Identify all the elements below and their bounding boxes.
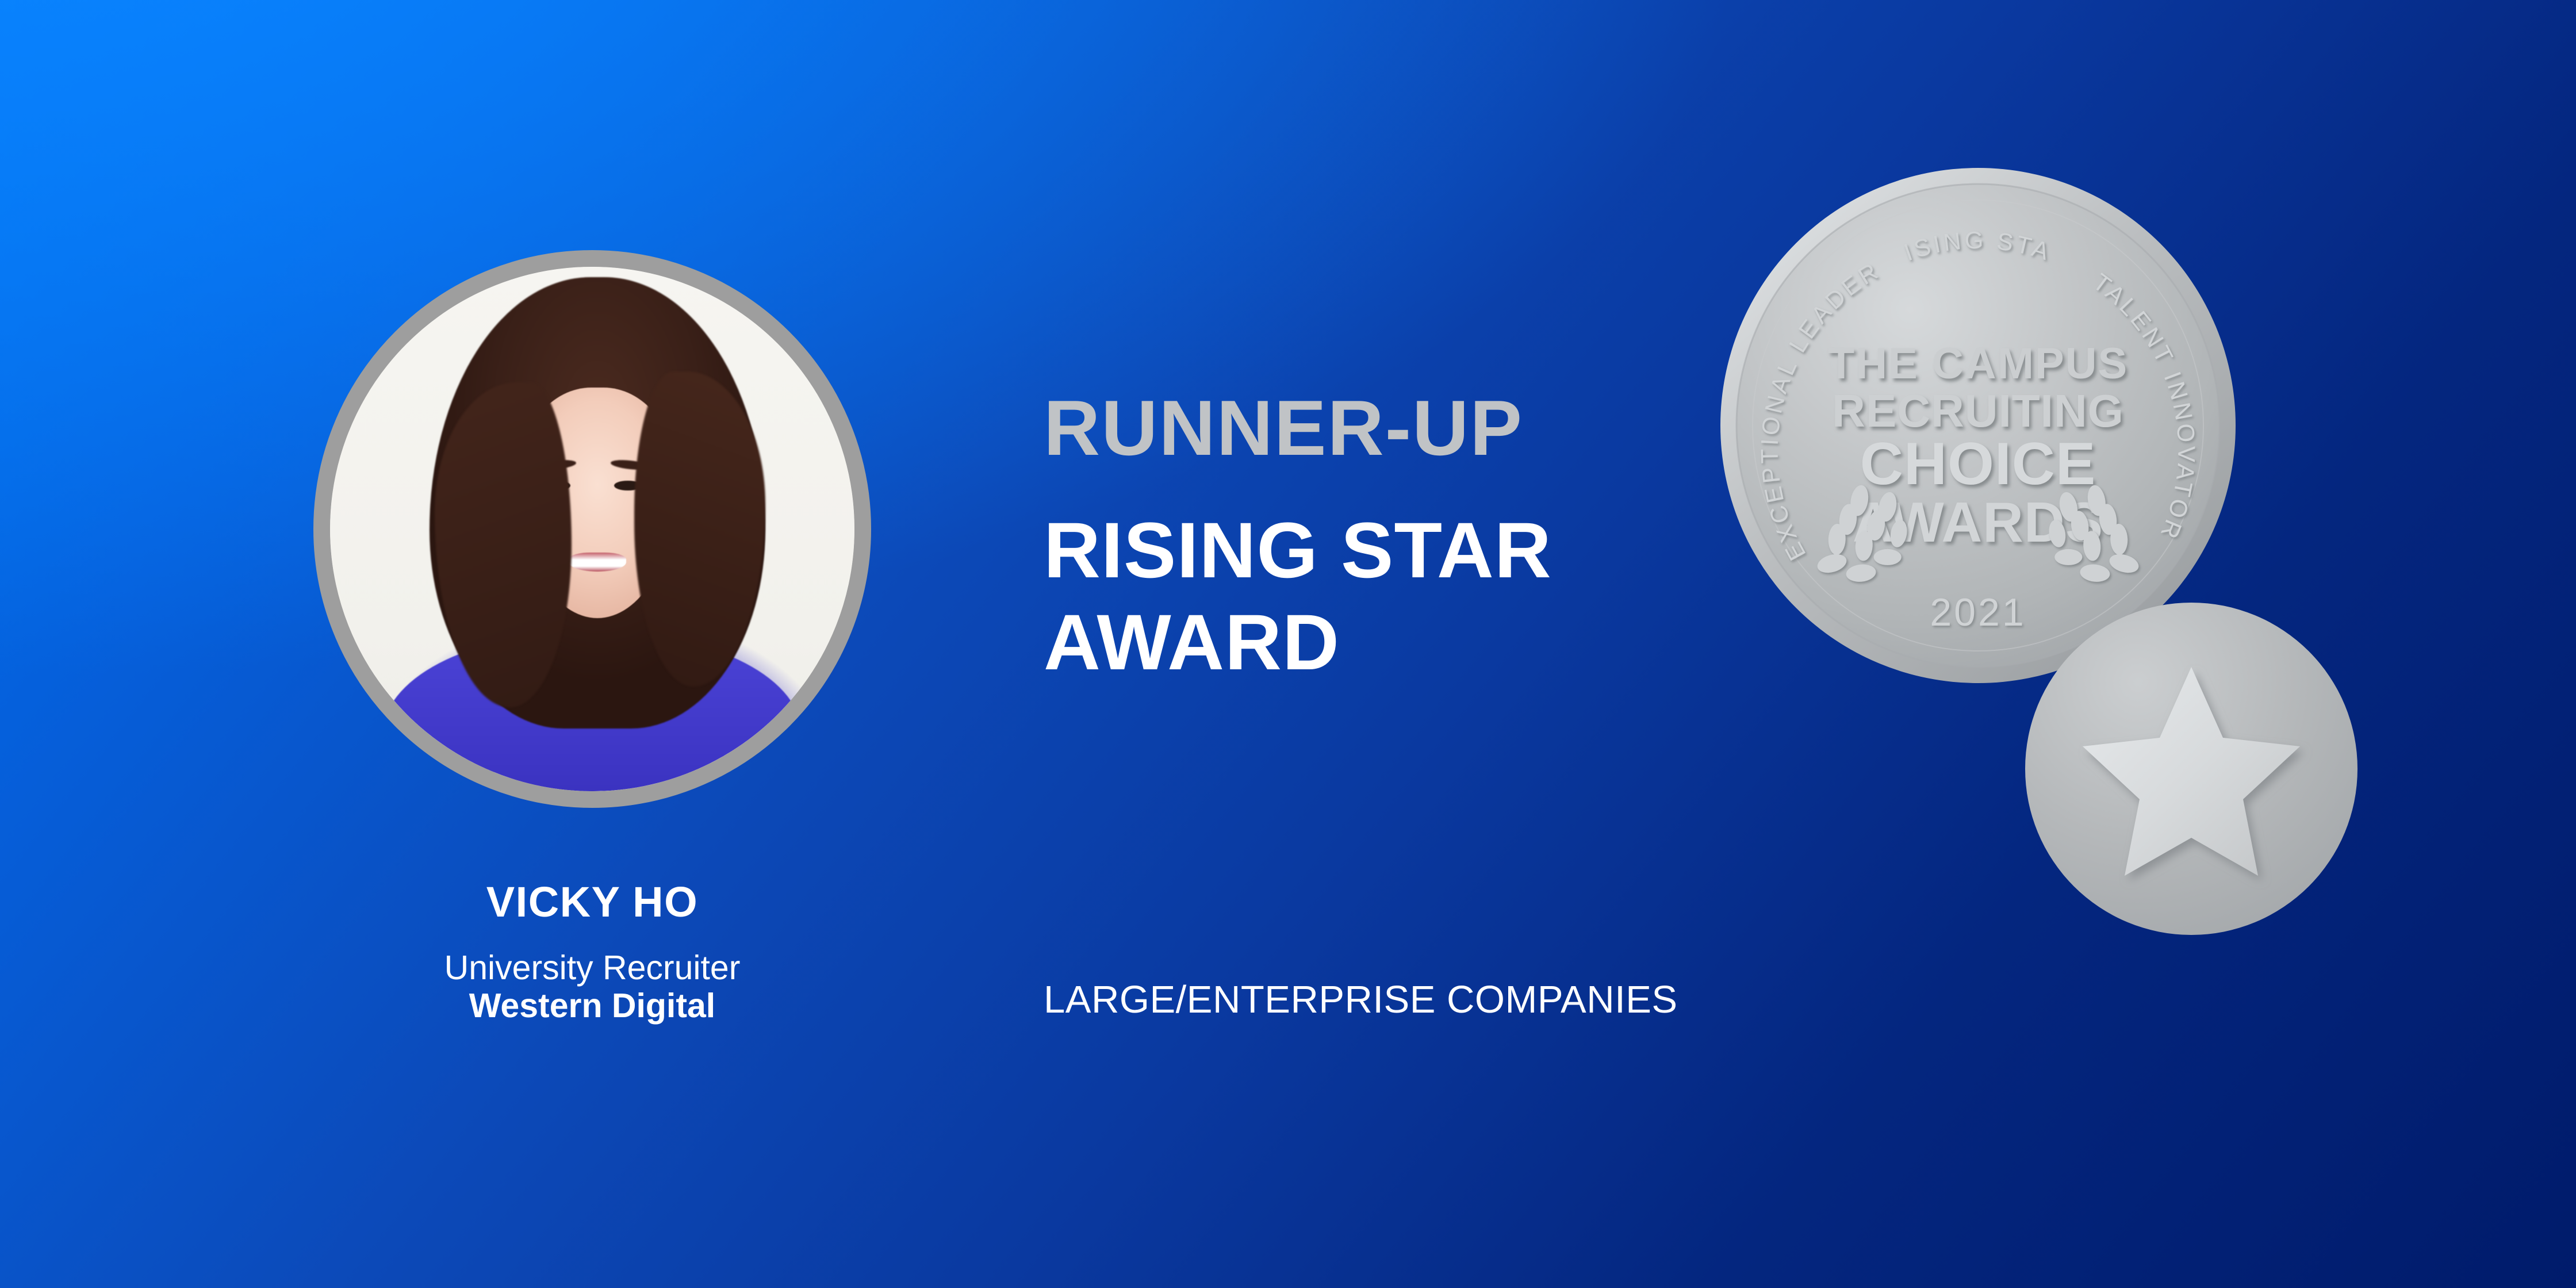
honoree-photo-frame xyxy=(313,250,871,808)
medal-center-line-1: THE CAMPUS xyxy=(1828,339,2128,388)
medal-center-line-3: CHOICE xyxy=(1860,431,2096,497)
star-icon xyxy=(2025,603,2357,935)
honoree-portrait xyxy=(330,267,854,791)
star-badge xyxy=(2025,603,2357,935)
honoree-role: University Recruiter xyxy=(313,949,871,987)
medal-year: 2021 xyxy=(1930,591,2026,634)
portrait-mouth xyxy=(569,553,626,572)
honoree-organization: Western Digital xyxy=(313,987,871,1025)
honoree-name: VICKY HO xyxy=(313,880,871,925)
medal-center-line-2: RECRUITING xyxy=(1832,385,2124,436)
award-graphic: VICKY HO University Recruiter Western Di… xyxy=(0,0,2576,1288)
honoree-details: VICKY HO University Recruiter Western Di… xyxy=(313,880,871,1025)
portrait-hair-right xyxy=(634,371,765,686)
award-category: LARGE/ENTERPRISE COMPANIES xyxy=(1044,977,1678,1022)
